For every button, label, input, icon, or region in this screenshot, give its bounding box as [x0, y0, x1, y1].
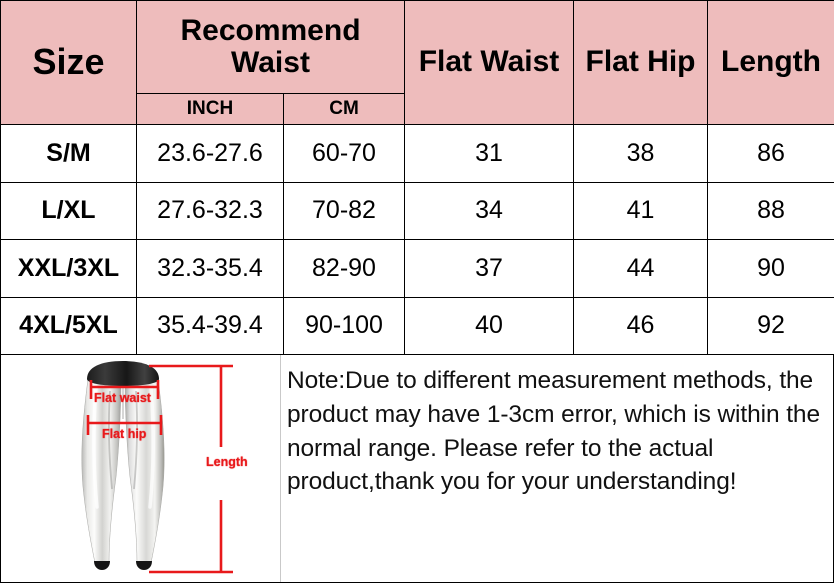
table-body: S/M 23.6-27.6 60-70 31 38 86 L/XL 27.6-3… [1, 125, 834, 355]
cell-waist-inch: 35.4-39.4 [137, 297, 284, 355]
cell-waist-cm: 90-100 [284, 297, 405, 355]
table-row: 4XL/5XL 35.4-39.4 90-100 40 46 92 [1, 297, 834, 355]
cell-waist-inch: 27.6-32.3 [137, 182, 284, 240]
left-leg-shape [82, 379, 121, 563]
unit-recommend-waist-inch: INCH [137, 94, 284, 125]
measurement-diagram: Flat waist Flat hip Length [1, 355, 281, 582]
right-ankle-cuff [136, 561, 152, 570]
table-row: L/XL 27.6-32.3 70-82 34 41 88 [1, 182, 834, 240]
cell-flat-waist: 40 [405, 297, 574, 355]
cell-waist-inch: 23.6-27.6 [137, 125, 284, 183]
cell-size: S/M [1, 125, 137, 183]
header-recommend-waist: Recommend Waist [137, 1, 405, 94]
cell-length: 92 [708, 297, 834, 355]
cell-length: 90 [708, 240, 834, 298]
cell-length: 88 [708, 182, 834, 240]
left-ankle-cuff [94, 561, 110, 570]
header-size: Size [1, 1, 137, 125]
cell-flat-hip: 46 [574, 297, 708, 355]
cell-flat-hip: 44 [574, 240, 708, 298]
note-text: Note:Due to different measurement method… [287, 364, 833, 499]
cell-flat-waist: 37 [405, 240, 574, 298]
cell-waist-cm: 60-70 [284, 125, 405, 183]
header-flat-hip: Flat Hip [574, 1, 708, 125]
cell-flat-waist: 31 [405, 125, 574, 183]
cell-waist-cm: 82-90 [284, 240, 405, 298]
table-row: XXL/3XL 32.3-35.4 82-90 37 44 90 [1, 240, 834, 298]
right-leg-shape [125, 379, 164, 563]
cell-length: 86 [708, 125, 834, 183]
annotation-flat-hip: Flat hip [102, 427, 146, 441]
cell-size: L/XL [1, 182, 137, 240]
annotation-flat-waist: Flat waist [94, 391, 151, 405]
cell-flat-waist: 34 [405, 182, 574, 240]
bottom-section: Flat waist Flat hip Length Note:Due to d… [0, 355, 834, 583]
annotation-length: Length [206, 455, 248, 469]
cell-flat-hip: 41 [574, 182, 708, 240]
header-flat-waist: Flat Waist [405, 1, 574, 125]
cell-waist-inch: 32.3-35.4 [137, 240, 284, 298]
note-panel: Note:Due to different measurement method… [281, 355, 833, 582]
cell-size: XXL/3XL [1, 240, 137, 298]
table-row: S/M 23.6-27.6 60-70 31 38 86 [1, 125, 834, 183]
header-length: Length [708, 1, 834, 125]
header-row-main: Size Recommend Waist Flat Waist Flat Hip… [1, 1, 834, 94]
cell-size: 4XL/5XL [1, 297, 137, 355]
size-chart-page: Size Recommend Waist Flat Waist Flat Hip… [0, 0, 834, 583]
cell-waist-cm: 70-82 [284, 182, 405, 240]
unit-recommend-waist-cm: CM [284, 94, 405, 125]
cell-flat-hip: 38 [574, 125, 708, 183]
waistband [87, 361, 159, 386]
size-chart-table: Size Recommend Waist Flat Waist Flat Hip… [0, 0, 834, 355]
table-header: Size Recommend Waist Flat Waist Flat Hip… [1, 1, 834, 125]
